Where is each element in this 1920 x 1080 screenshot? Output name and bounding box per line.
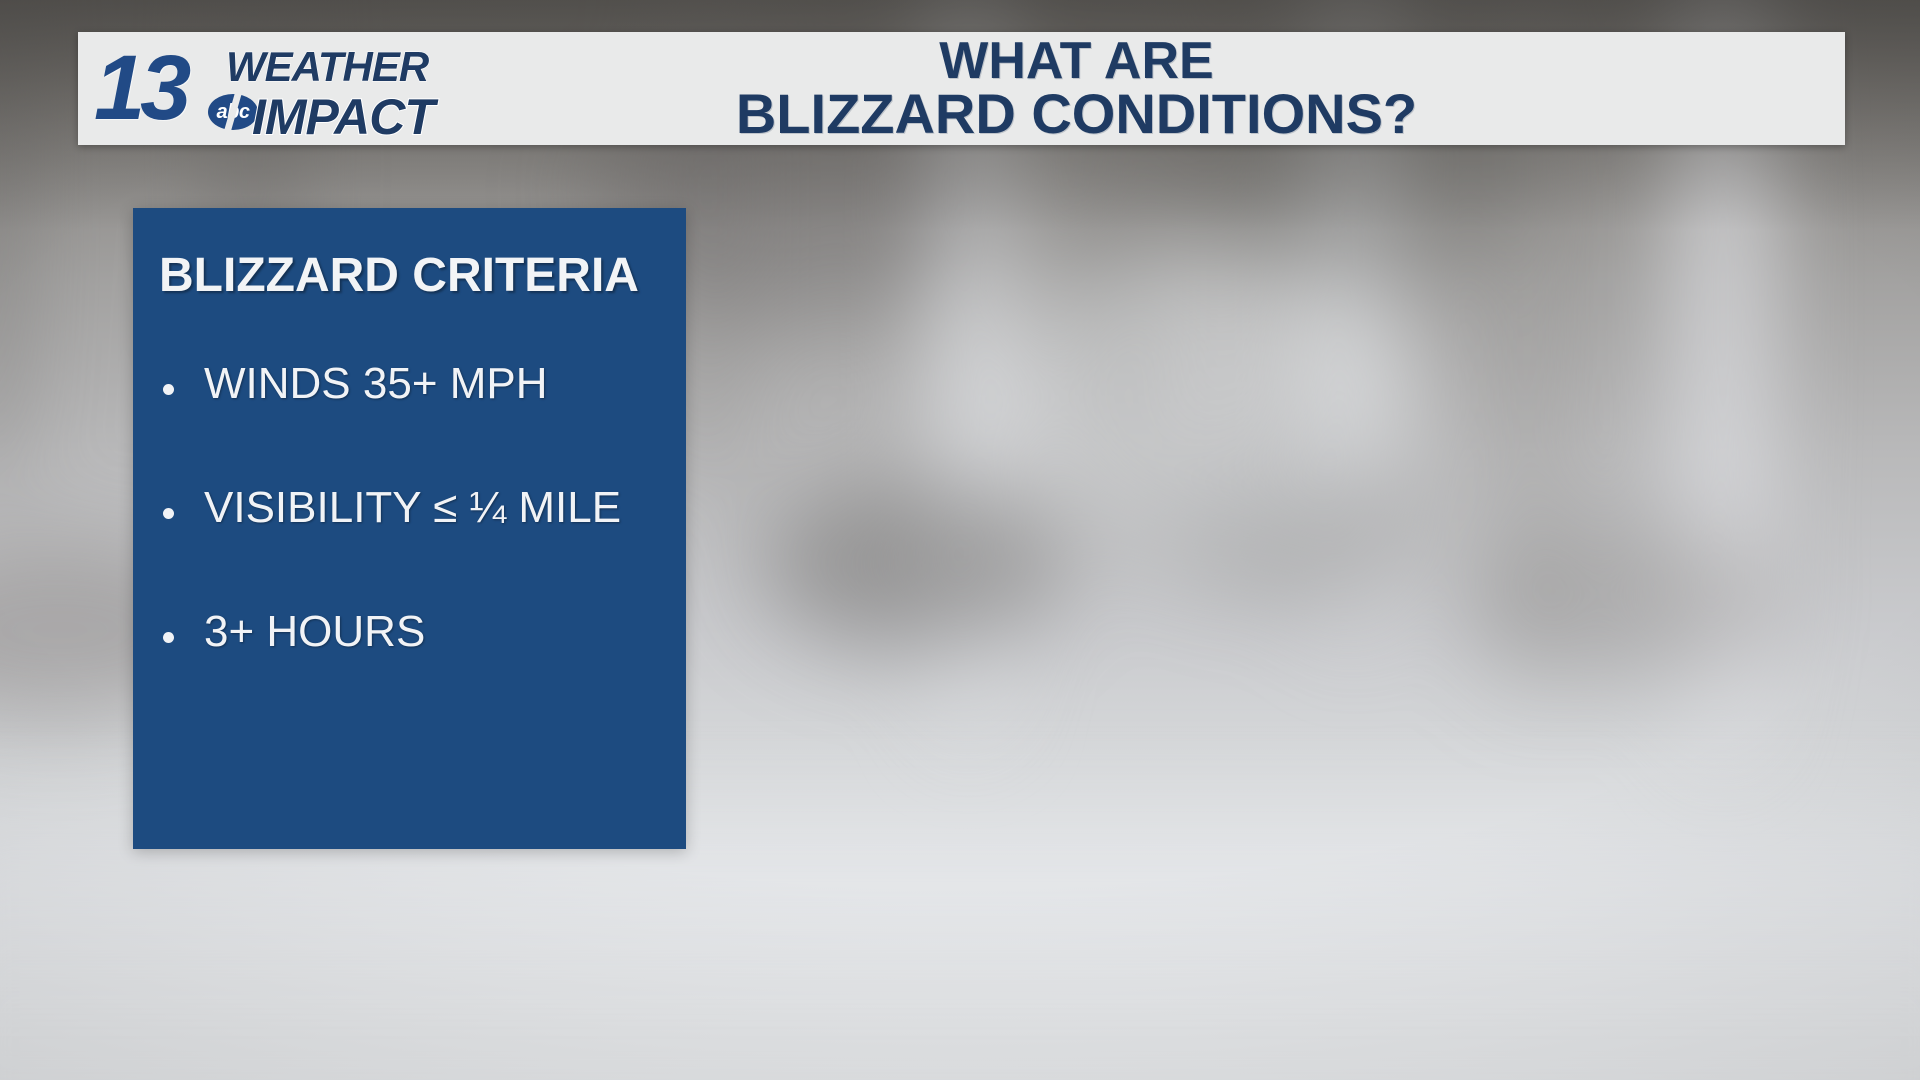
station-logo[interactable]: 13 abc WEATHER IMPACT	[78, 32, 438, 145]
list-item: 3+ HOURS	[163, 609, 686, 655]
bullet-dot-icon	[163, 632, 174, 643]
headline-line-2: BLIZZARD CONDITIONS?	[438, 87, 1715, 140]
broadcast-graphic-stage: 13 abc WEATHER IMPACT WHAT ARE BLIZZARD …	[0, 0, 1920, 1080]
list-item: VISIBILITY ≤ ¼ MILE	[163, 485, 686, 531]
tree-trunk-shape	[0, 0, 18, 500]
list-item: WINDS 35+ MPH	[163, 361, 686, 407]
bullet-dot-icon	[163, 384, 174, 395]
header-bar: 13 abc WEATHER IMPACT WHAT ARE BLIZZARD …	[78, 32, 1845, 145]
channel-number-logo: 13	[94, 46, 186, 131]
snow-highlight-blotch	[1000, 250, 1420, 550]
logo-word-impact: IMPACT	[252, 92, 434, 142]
foliage-blotch	[1460, 520, 1780, 680]
headline-title: WHAT ARE BLIZZARD CONDITIONS?	[438, 37, 1845, 140]
logo-word-weather: WEATHER	[226, 46, 434, 88]
blizzard-criteria-panel: BLIZZARD CRITERIA WINDS 35+ MPH VISIBILI…	[133, 208, 686, 849]
criteria-list: WINDS 35+ MPH VISIBILITY ≤ ¼ MILE 3+ HOU…	[133, 361, 686, 656]
criteria-label: VISIBILITY ≤ ¼ MILE	[204, 485, 621, 531]
headline-line-1: WHAT ARE	[438, 37, 1715, 86]
criteria-label: 3+ HOURS	[204, 609, 425, 655]
logo-wordmark: WEATHER IMPACT	[226, 46, 434, 142]
foliage-blotch	[760, 480, 1060, 650]
criteria-label: WINDS 35+ MPH	[204, 361, 548, 407]
panel-title: BLIZZARD CRITERIA	[133, 248, 686, 303]
bullet-dot-icon	[163, 508, 174, 519]
